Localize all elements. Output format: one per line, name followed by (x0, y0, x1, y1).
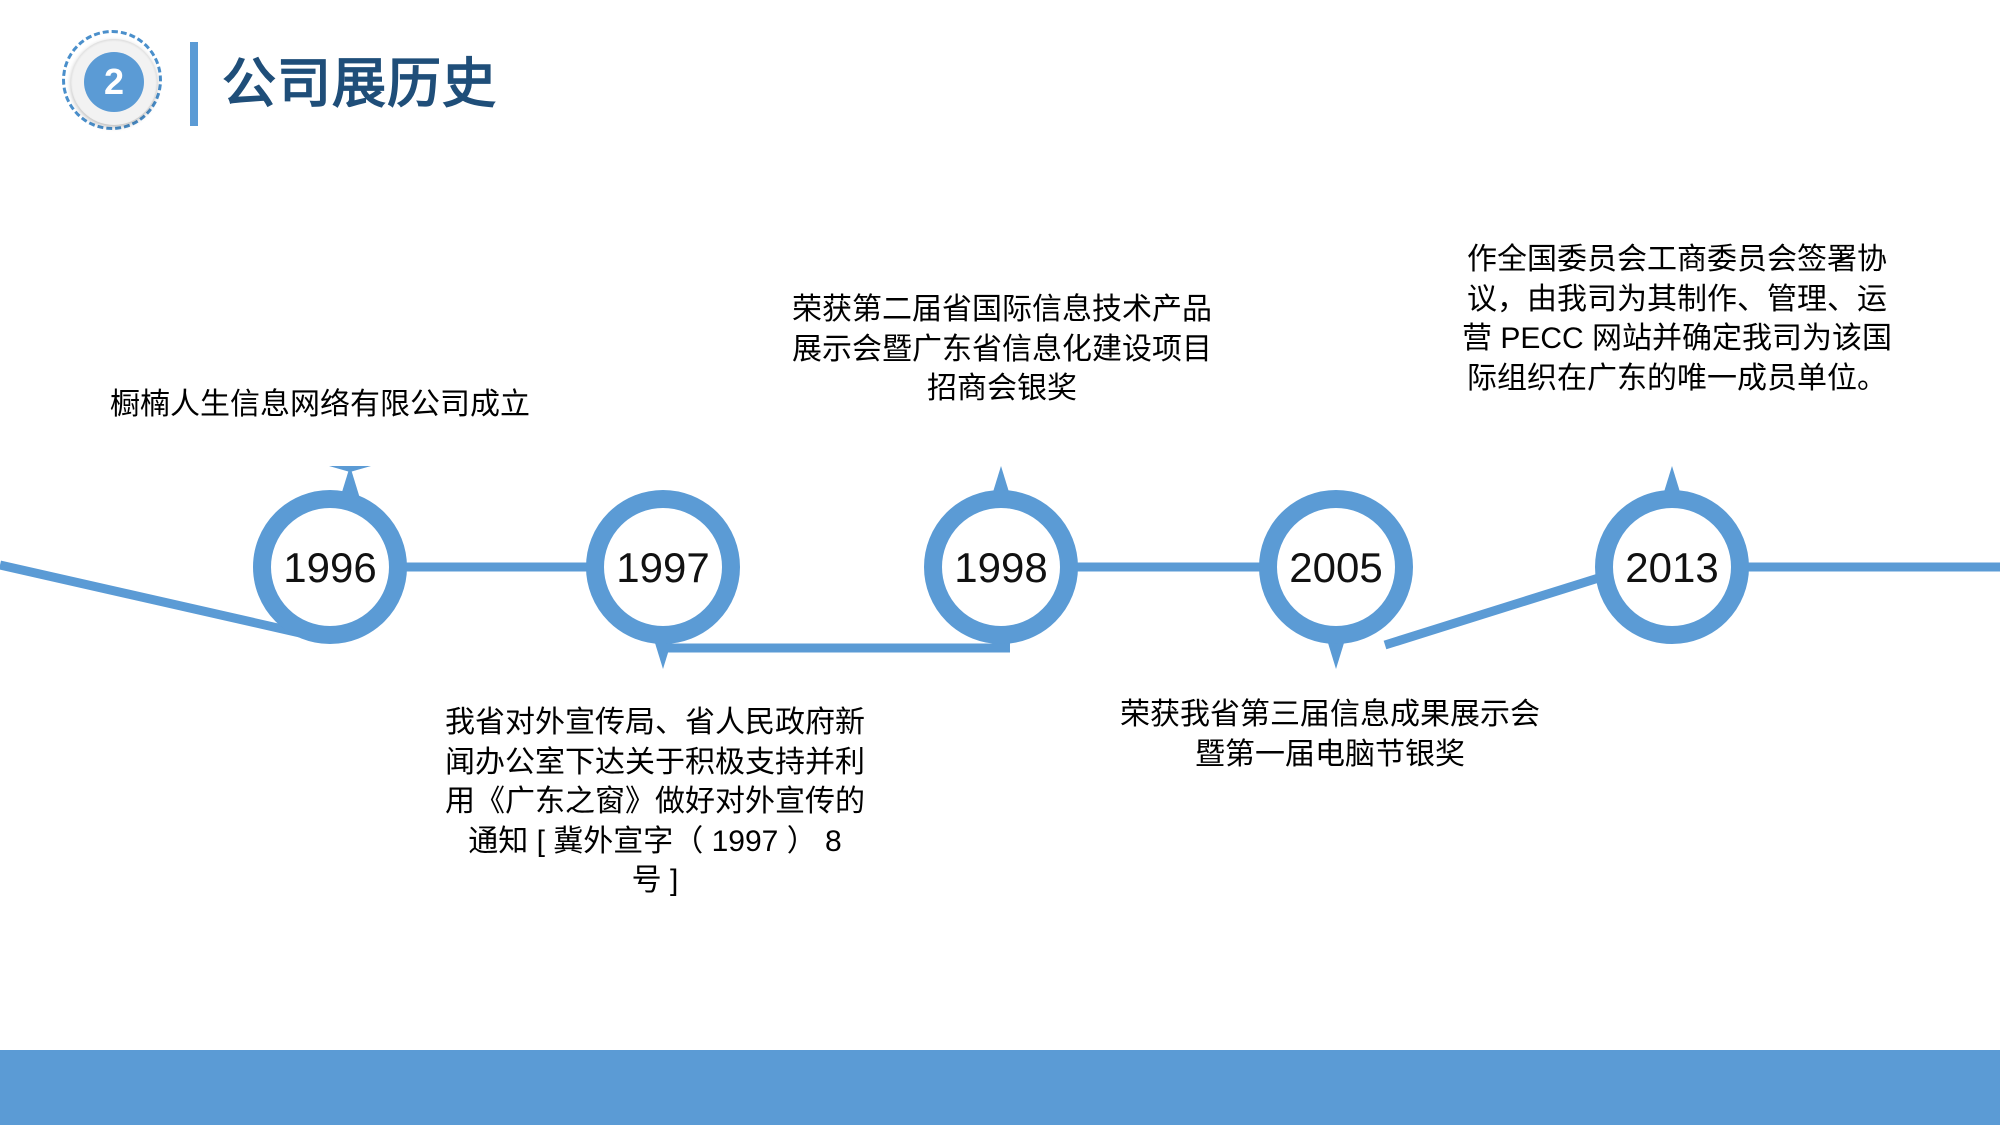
caption-1996: 橱楠人生信息网络有限公司成立 (70, 385, 570, 425)
section-number-badge: 2 (62, 30, 170, 138)
caption-2005: 荣获我省第三届信息成果展示会 暨第一届电脑节银奖 (1090, 695, 1570, 774)
node-pointer-down-2005 (1320, 617, 1352, 669)
footer-bar (0, 1050, 2000, 1125)
year-label-1998: 1998 (926, 547, 1076, 589)
year-label-1997: 1997 (588, 547, 738, 589)
page-header: 2 公司展历史 (0, 0, 2000, 170)
year-label-1996: 1996 (255, 547, 405, 589)
node-pointer-up-2013 (1656, 466, 1688, 518)
page-title: 公司展历史 (222, 42, 497, 126)
year-label-2013: 2013 (1597, 547, 1747, 589)
node-pointer-down-1997 (647, 617, 679, 669)
caption-1997: 我省对外宣传局、省人民政府新 闻办公室下达关于积极支持并利 用《广东之窗》做好对… (410, 703, 900, 901)
node-pointer-up-1996-tip (334, 466, 366, 518)
caption-1998: 荣获第二届省国际信息技术产品 展示会暨广东省信息化建设项目 招商会银奖 (752, 290, 1252, 409)
node-pointer-up-1998 (985, 466, 1017, 518)
title-accent-bar (190, 42, 198, 126)
caption-2013: 作全国委员会工商委员会签署协 议，由我司为其制作、管理、运 营 PECC 网站并… (1432, 240, 1922, 398)
badge-number: 2 (84, 52, 144, 112)
year-label-2005: 2005 (1261, 547, 1411, 589)
node-pointer-up-1996 (329, 466, 371, 472)
